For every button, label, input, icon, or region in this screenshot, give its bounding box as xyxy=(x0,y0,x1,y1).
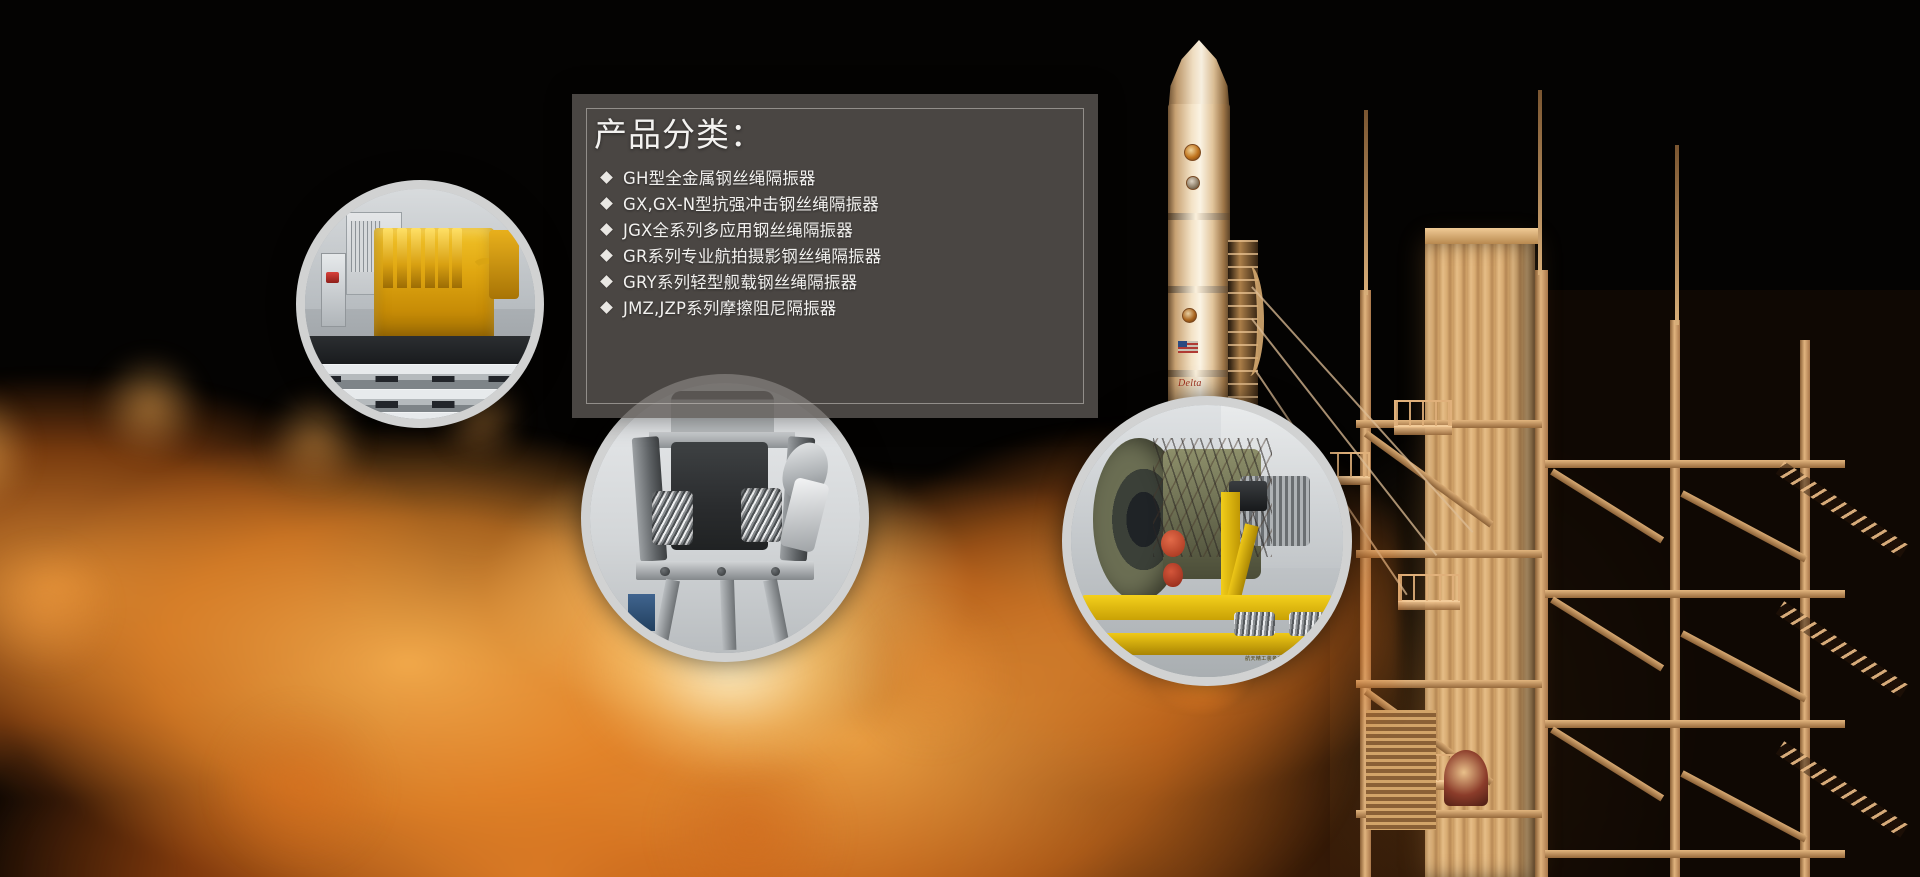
tower-beam xyxy=(1545,850,1845,858)
diamond-bullet-icon xyxy=(600,223,613,236)
tower-platform xyxy=(1394,425,1452,435)
list-item[interactable]: GRY系列轻型舰载钢丝绳隔振器 xyxy=(602,268,1072,294)
wire-rope-coil xyxy=(741,488,782,542)
list-item-label: JGX全系列多应用钢丝绳隔振器 xyxy=(623,217,853,241)
list-item[interactable]: GH型全金属钢丝绳隔振器 xyxy=(602,164,1072,190)
list-item-label: GH型全金属钢丝绳隔振器 xyxy=(623,165,816,189)
list-item[interactable]: JMZ,JZP系列摩擦阻尼隔振器 xyxy=(602,294,1072,320)
lightning-mast xyxy=(1364,110,1368,295)
engine-cylinder xyxy=(383,228,393,288)
tower-dark-bay xyxy=(1545,290,1920,877)
diamond-bullet-icon xyxy=(600,171,613,184)
tower-column xyxy=(1670,320,1680,877)
engine-cylinder xyxy=(438,228,448,288)
banner-stage: Delta xyxy=(0,0,1920,877)
diesel-generator-photo[interactable] xyxy=(296,180,544,428)
blue-equipment xyxy=(628,594,655,632)
tower-beam xyxy=(1545,460,1845,468)
tower-core-cap xyxy=(1425,228,1540,244)
cradle-rail xyxy=(1093,633,1327,655)
launch-tower xyxy=(1330,0,1920,877)
mission-patch-icon xyxy=(1186,176,1200,190)
turbine-engine-cradle-photo[interactable]: 航天精工装备有限公司 xyxy=(1062,396,1352,686)
red-valve xyxy=(326,272,340,284)
diamond-bullet-icon xyxy=(600,249,613,262)
photo-content: 航天精工装备有限公司 xyxy=(1071,405,1343,677)
mission-patch-icon xyxy=(1182,308,1197,323)
wire-rope-isolator-spring xyxy=(1289,612,1330,636)
list-item[interactable]: GR系列专业航拍摄影钢丝绳隔振器 xyxy=(602,242,1072,268)
list-item-label: GRY系列轻型舰载钢丝绳隔振器 xyxy=(623,269,857,293)
tower-column xyxy=(1535,270,1548,877)
product-category-panel: 产品分类： GH型全金属钢丝绳隔振器 GX,GX-N型抗强冲击钢丝绳隔振器 JG… xyxy=(572,94,1098,418)
list-item-label: JMZ,JZP系列摩擦阻尼隔振器 xyxy=(623,295,836,319)
cradle-label-text: 航天精工装备有限公司 xyxy=(1245,655,1299,662)
tower-railing xyxy=(1398,574,1460,601)
rocket-band xyxy=(1168,286,1230,293)
isolator-skid-rail xyxy=(305,389,535,414)
diamond-bullet-icon xyxy=(600,275,613,288)
tower-beam xyxy=(1545,720,1845,728)
wire-rope-isolator-spring xyxy=(1234,612,1275,636)
tower-platform xyxy=(1398,600,1460,610)
list-item-label: GR系列专业航拍摄影钢丝绳隔振器 xyxy=(623,243,881,267)
list-item[interactable]: JGX全系列多应用钢丝绳隔振器 xyxy=(602,216,1072,242)
list-item[interactable]: GX,GX-N型抗强冲击钢丝绳隔振器 xyxy=(602,190,1072,216)
coolant-tank xyxy=(321,253,346,327)
mounting-bolt xyxy=(660,567,669,576)
product-category-list: GH型全金属钢丝绳隔振器 GX,GX-N型抗强冲击钢丝绳隔振器 JGX全系列多应… xyxy=(602,164,1072,320)
turbocharger xyxy=(489,230,519,299)
engine-cylinder xyxy=(425,228,435,288)
engine-cylinder xyxy=(397,228,407,288)
turbine-red-component xyxy=(1163,563,1182,587)
diamond-bullet-icon xyxy=(600,301,613,314)
tower-round-equipment xyxy=(1444,750,1488,806)
isolator-skid-rail xyxy=(305,364,535,389)
tower-railing xyxy=(1394,400,1452,426)
engine-cylinder xyxy=(411,228,421,288)
support-leg xyxy=(720,580,736,651)
rocket-band xyxy=(1168,213,1230,220)
photo-content xyxy=(305,189,535,419)
tower-column xyxy=(1800,340,1810,877)
engine-cylinder xyxy=(452,228,462,288)
tower-beam xyxy=(1545,590,1845,598)
lightning-mast xyxy=(1538,90,1542,275)
lightning-mast xyxy=(1675,145,1679,325)
wire-rope-coil xyxy=(652,491,693,545)
photo-content xyxy=(590,383,860,653)
list-item-label: GX,GX-N型抗强冲击钢丝绳隔振器 xyxy=(623,191,879,215)
mission-patch-icon xyxy=(1184,144,1201,161)
panel-title: 产品分类： xyxy=(594,108,764,156)
rocket-nose-cone xyxy=(1168,40,1230,114)
diamond-bullet-icon xyxy=(600,197,613,210)
